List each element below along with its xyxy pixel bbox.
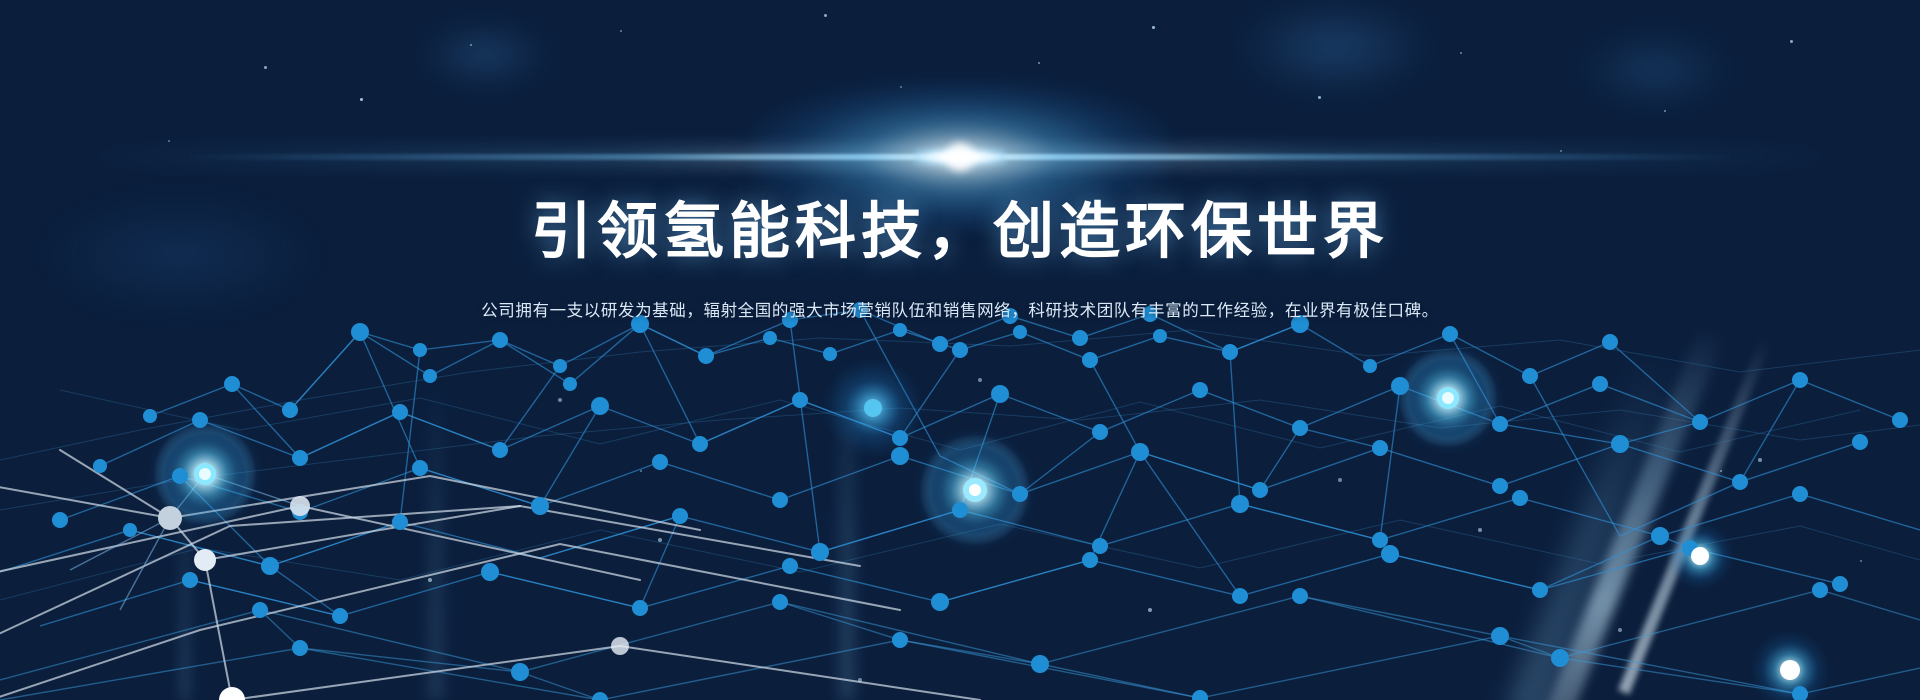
network-lines-foreground-blue	[70, 474, 300, 610]
star-speck	[1790, 40, 1793, 43]
hero-copy: 引领氢能科技，创造环保世界 公司拥有一支以研发为基础，辐射全国的强大市场营销队伍…	[0, 196, 1920, 321]
light-beam	[1618, 338, 1771, 695]
network-sparkles	[428, 378, 1762, 682]
star-speck	[360, 98, 363, 101]
page-subtitle: 公司拥有一支以研发为基础，辐射全国的强大市场营销队伍和销售网络，科研技术团队有丰…	[0, 297, 1920, 321]
star-speck	[1460, 52, 1462, 54]
flare-wide-streak	[80, 146, 1840, 168]
light-beam	[180, 470, 190, 700]
star-speck	[1152, 26, 1155, 29]
network-nodes-bright	[194, 387, 1800, 680]
light-beam	[1505, 353, 1679, 700]
network-node-halos	[147, 342, 1830, 700]
star-speck	[264, 66, 267, 69]
network-lines-mid	[0, 310, 1920, 626]
star-speck	[470, 44, 472, 46]
star-speck	[824, 14, 827, 17]
network-lines-foreground	[0, 450, 980, 700]
star-speck	[270, 560, 272, 562]
flare-core	[914, 148, 1006, 166]
star-speck	[900, 86, 902, 88]
star-speck	[620, 30, 622, 32]
light-beam	[840, 360, 854, 700]
network-lines-far	[0, 330, 1920, 600]
network-lines-lower	[0, 590, 1920, 700]
flare-diamond	[935, 132, 986, 183]
sky-glow-blob	[1240, 0, 1430, 95]
star-speck	[1038, 62, 1040, 64]
sky-glow-blob	[1580, 30, 1730, 110]
star-speck	[168, 140, 170, 142]
light-beam	[1544, 325, 1725, 700]
star-speck	[1664, 110, 1666, 112]
star-speck	[1860, 560, 1862, 562]
star-speck	[1560, 150, 1562, 152]
top-lens-flare	[0, 122, 1920, 192]
network-nodes-foreground	[158, 496, 629, 700]
sky-glow-blob	[420, 20, 550, 90]
star-speck	[1318, 96, 1321, 99]
star-speck	[1720, 470, 1722, 472]
star-speck	[640, 470, 642, 472]
light-beam	[430, 380, 442, 700]
flare-streak	[180, 154, 1740, 160]
network-graphic	[0, 280, 1920, 700]
network-nodes	[52, 302, 1908, 700]
page-title: 引领氢能科技，创造环保世界	[0, 196, 1920, 268]
hero-banner: 引领氢能科技，创造环保世界 公司拥有一支以研发为基础，辐射全国的强大市场营销队伍…	[0, 0, 1920, 700]
